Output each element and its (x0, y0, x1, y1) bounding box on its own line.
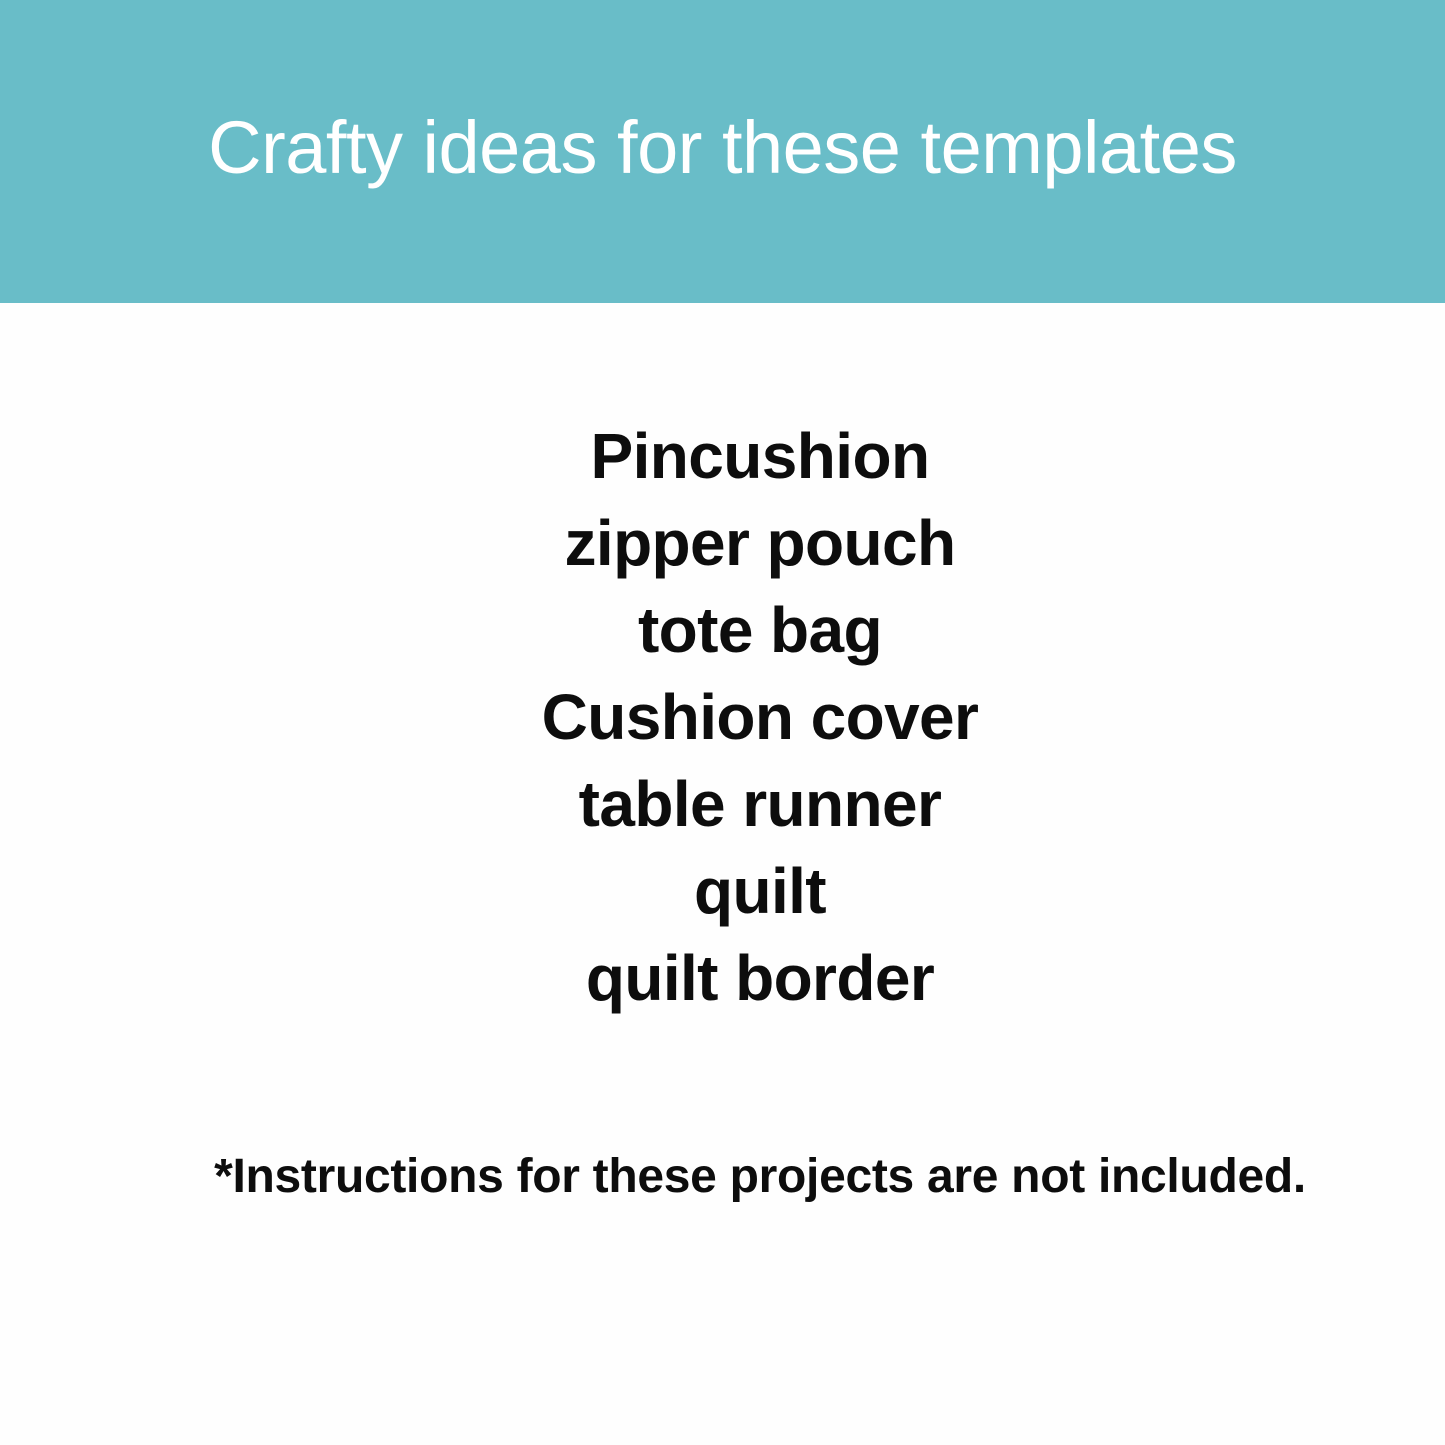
list-item: table runner (0, 761, 1445, 848)
list-item: zipper pouch (0, 500, 1445, 587)
list-item: Pincushion (0, 413, 1445, 500)
crafty-ideas-card: Crafty ideas for these templates Pincush… (0, 0, 1445, 1445)
list-item: quilt (0, 848, 1445, 935)
list-item: quilt border (0, 935, 1445, 1022)
page-title: Crafty ideas for these templates (208, 111, 1237, 185)
footnote-disclaimer: *Instructions for these projects are not… (0, 1146, 1445, 1208)
list-item: tote bag (0, 587, 1445, 674)
list-item: Cushion cover (0, 674, 1445, 761)
header-band: Crafty ideas for these templates (0, 0, 1445, 303)
craft-ideas-list: Pincushion zipper pouch tote bag Cushion… (0, 413, 1445, 1022)
